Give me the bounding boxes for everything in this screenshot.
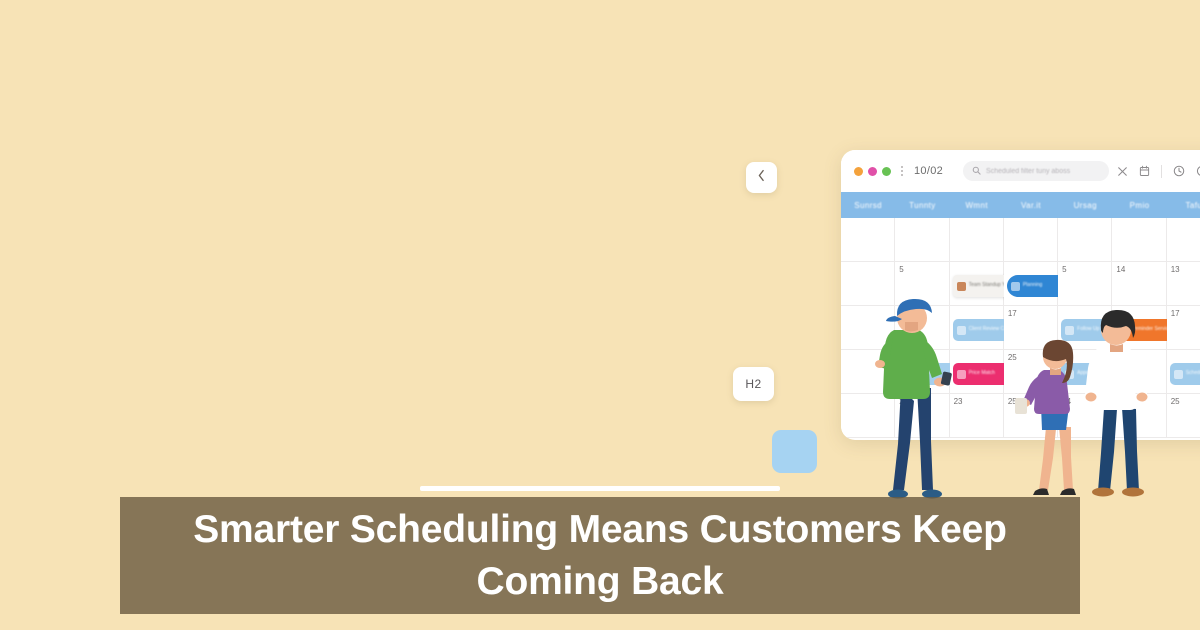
day-number: 25	[1008, 397, 1053, 406]
calendar-day-cell[interactable]: Price Match	[950, 350, 1004, 394]
search-placeholder: Scheduled filter tuny aboss	[986, 168, 1070, 175]
day-number: 23	[954, 397, 999, 406]
calendar-weekday-header: Sunrsd Tunnty Wmnt Var.it Ursag Pmio Taf…	[841, 192, 1200, 218]
event-icon	[957, 326, 966, 335]
day-number: 29	[1116, 353, 1161, 362]
calendar-day-cell[interactable]: Scheduled Booking	[1167, 350, 1200, 394]
calendar-day-cell[interactable]: 5	[895, 262, 949, 306]
calendar-day-cell[interactable]: 23	[950, 394, 1004, 438]
calendar-day-cell[interactable]: Team Standup Yesterday	[950, 262, 1004, 306]
window-controls[interactable]	[854, 167, 891, 176]
chevron-left-icon	[757, 169, 766, 187]
maximize-window-dot[interactable]	[882, 167, 891, 176]
day-number: 17	[1171, 309, 1200, 318]
day-number: 27	[1116, 397, 1161, 406]
calendar-day-cell[interactable]: 24	[1058, 394, 1112, 438]
calendar-day-cell[interactable]: 14	[1112, 262, 1166, 306]
event-label: Scheduled Booking	[1186, 370, 1200, 378]
event-icon	[957, 370, 966, 379]
event-label: Site Visit	[914, 370, 933, 378]
kebab-menu-icon[interactable]	[901, 164, 903, 178]
refresh-icon[interactable]	[1196, 165, 1200, 177]
calendar-day-cell[interactable]	[895, 218, 949, 262]
h2-badge[interactable]: H2	[733, 367, 774, 401]
event-label: Reminder Service	[1131, 326, 1171, 334]
calendar-day-cell[interactable]: Appointment	[1058, 350, 1112, 394]
calendar-day-cell[interactable]: Planning	[1004, 262, 1058, 306]
weekday-6: Tafu	[1167, 192, 1200, 218]
clock-icon[interactable]	[1173, 165, 1185, 177]
calendar-day-cell[interactable]: 23	[895, 394, 949, 438]
calendar-event-chip[interactable]: Scheduled Booking	[1170, 363, 1200, 385]
calendar-icon[interactable]	[1139, 165, 1150, 177]
weekday-2: Wmnt	[950, 192, 1004, 218]
calendar-day-cell[interactable]: 11	[895, 306, 949, 350]
search-input[interactable]: Scheduled filter tuny aboss	[963, 161, 1109, 181]
event-icon	[1119, 326, 1128, 335]
calendar-month-grid[interactable]: 5Team Standup YesterdayPlanning5141311Cl…	[841, 218, 1200, 438]
search-icon	[972, 162, 981, 180]
event-icon	[1065, 370, 1074, 379]
calendar-app-window: 10/02 Scheduled filter tuny aboss	[841, 150, 1200, 440]
day-number: 5	[899, 265, 944, 274]
date-label: 10/02	[914, 165, 943, 177]
event-icon	[957, 282, 966, 291]
event-icon	[1065, 326, 1074, 335]
calendar-day-cell[interactable]: 29	[1112, 350, 1166, 394]
calendar-day-cell[interactable]	[950, 218, 1004, 262]
day-number: 5	[1062, 265, 1107, 274]
day-number: 25	[1171, 397, 1200, 406]
calendar-day-cell[interactable]	[841, 306, 895, 350]
calendar-day-cell[interactable]	[841, 350, 895, 394]
headline-banner: Smarter Scheduling Means Customers Keep …	[120, 497, 1080, 614]
app-toolbar	[1117, 165, 1200, 178]
day-number: 13	[1171, 265, 1200, 274]
calendar-day-cell[interactable]	[1004, 218, 1058, 262]
day-number: 17	[1008, 309, 1053, 318]
title-divider	[420, 486, 780, 491]
event-icon	[902, 370, 911, 379]
weekday-1: Tunnty	[895, 192, 949, 218]
calendar-day-cell[interactable]: 5	[1058, 262, 1112, 306]
event-label: Price Match	[969, 370, 995, 378]
calendar-day-cell[interactable]	[841, 262, 895, 306]
event-icon	[1174, 370, 1183, 379]
day-number: 11	[899, 309, 944, 318]
event-label: Planning	[1023, 282, 1042, 290]
app-titlebar: 10/02 Scheduled filter tuny aboss	[841, 150, 1200, 192]
calendar-day-cell[interactable]	[1167, 218, 1200, 262]
calendar-day-cell[interactable]	[841, 394, 895, 438]
poster-canvas: 10/02 Scheduled filter tuny aboss	[0, 0, 1200, 630]
calendar-day-cell[interactable]	[1112, 218, 1166, 262]
weekday-4: Ursag	[1058, 192, 1112, 218]
day-number: 14	[1116, 265, 1161, 274]
calendar-day-cell[interactable]: 17	[1004, 306, 1058, 350]
calendar-day-cell[interactable]: 25	[1004, 350, 1058, 394]
calendar-day-cell[interactable]: 25	[1004, 394, 1058, 438]
calendar-day-cell[interactable]: 17	[1167, 306, 1200, 350]
calendar-day-cell[interactable]: Follow Up Session	[1058, 306, 1112, 350]
blue-placeholder-square[interactable]	[772, 430, 817, 473]
event-label: Appointment	[1077, 370, 1105, 378]
page-title: Smarter Scheduling Means Customers Keep …	[146, 504, 1054, 607]
weekday-0: Sunrsd	[841, 192, 895, 218]
weekday-3: Var.it	[1004, 192, 1058, 218]
calendar-day-cell[interactable]: 27	[1112, 394, 1166, 438]
calendar-day-cell[interactable]: Reminder Service	[1112, 306, 1166, 350]
calendar-day-cell[interactable]: 13	[1167, 262, 1200, 306]
toolbar-divider	[1161, 165, 1162, 178]
day-number: 24	[1062, 397, 1107, 406]
day-number: 23	[899, 397, 944, 406]
calendar-day-cell[interactable]: Site Visit	[895, 350, 949, 394]
shuffle-icon[interactable]	[1117, 166, 1128, 177]
event-icon	[1011, 282, 1020, 291]
weekday-5: Pmio	[1112, 192, 1166, 218]
calendar-day-cell[interactable]	[841, 218, 895, 262]
close-window-dot[interactable]	[854, 167, 863, 176]
calendar-day-cell[interactable]: Client Review Call	[950, 306, 1004, 350]
calendar-day-cell[interactable]: 25	[1167, 394, 1200, 438]
back-button[interactable]	[746, 162, 777, 193]
minimize-window-dot[interactable]	[868, 167, 877, 176]
calendar-day-cell[interactable]	[1058, 218, 1112, 262]
day-number: 25	[1008, 353, 1053, 362]
